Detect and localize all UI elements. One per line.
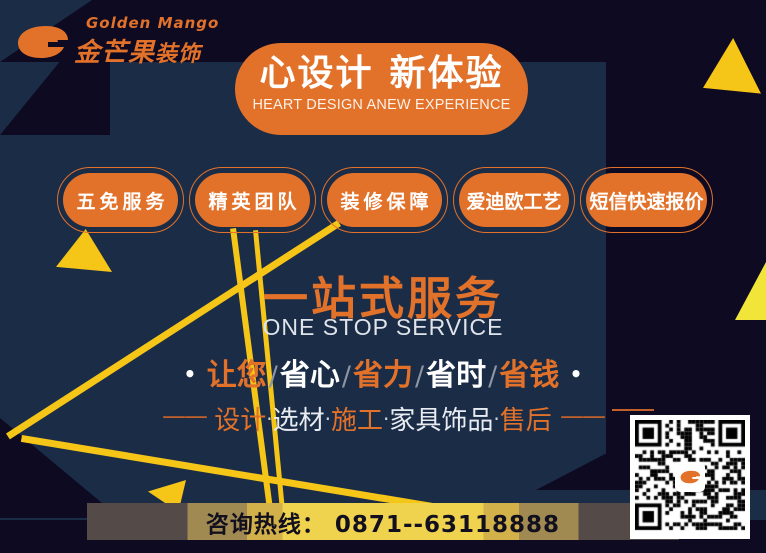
feature-pill-4-body[interactable]: 爱迪欧工艺 [459, 173, 569, 227]
hero-banner: 心设计新体验 HEART DESIGN ANEW EXPERIENCE [235, 43, 528, 135]
qr-accent-line [612, 409, 654, 411]
feature-pill-2-body[interactable]: 精英团队 [195, 173, 310, 227]
qr-code[interactable] [630, 415, 750, 539]
brand-chinese-main: 金芒果 [74, 38, 155, 68]
feature-pill-1-label: 五免服务 [72, 187, 168, 214]
service-item-1: 设计 [214, 406, 266, 436]
service-item-4: 家具饰品 [389, 406, 493, 436]
brand-english-name: Golden Mango [86, 14, 219, 32]
benefit-item-4: 省时 [426, 358, 486, 393]
service-item-5: 售后 [500, 406, 552, 436]
feature-pill-1-body[interactable]: 五免服务 [63, 173, 178, 227]
feature-pill-2[interactable]: 精英团队 [189, 167, 316, 233]
feature-pill-4[interactable]: 爱迪欧工艺 [453, 167, 575, 233]
onestop-subtitle: ONE STOP SERVICE [0, 314, 766, 341]
feature-pill-3-label: 装修保障 [336, 187, 432, 214]
poster-canvas: Golden Mango 金芒果装饰 心设计新体验 HEART DESIGN A… [0, 0, 766, 553]
feature-pill-5[interactable]: 短信快速报价 [580, 167, 713, 233]
benefit-item-2: 省心 [280, 358, 340, 393]
hotline-text: 咨询热线： 0871--63118888 [87, 503, 679, 540]
golden-mango-logo-mark [14, 23, 70, 61]
feature-pill-row: 五免服务 精英团队 装修保障 爱迪欧工艺 短信快速报价 [57, 167, 713, 233]
benefits-separator-4: / [486, 361, 499, 392]
hero-title: 心设计新体验 [235, 53, 528, 95]
brand-chinese-name: 金芒果装饰 [74, 32, 201, 69]
benefits-trail-dot: • [570, 362, 583, 386]
benefits-lead-dot: • [184, 362, 197, 386]
hero-subtitle: HEART DESIGN ANEW EXPERIENCE [235, 97, 528, 113]
feature-pill-3[interactable]: 装修保障 [321, 167, 448, 233]
feature-pill-3-body[interactable]: 装修保障 [327, 173, 442, 227]
hero-title-left: 心设计 [259, 53, 373, 94]
services-right-dash: —— [560, 402, 604, 430]
benefits-separator-3: / [413, 361, 426, 392]
benefit-item-3: 省力 [353, 358, 413, 393]
feature-pill-4-label: 爱迪欧工艺 [466, 187, 561, 214]
feature-pill-2-label: 精英团队 [204, 187, 300, 214]
qr-center-logo [675, 462, 705, 492]
benefit-item-5: 省钱 [499, 358, 559, 393]
benefits-line: • 让您/省心/省力/省时/省钱 • [0, 350, 766, 394]
hotline-band: 咨询热线： 0871--63118888 [87, 503, 679, 540]
service-item-2: 选材 [273, 406, 325, 436]
benefits-separator-2: / [340, 361, 353, 392]
feature-pill-5-label: 短信快速报价 [589, 187, 703, 214]
benefits-separator-1: / [267, 361, 280, 392]
feature-pill-1[interactable]: 五免服务 [57, 167, 184, 233]
brand-logo: Golden Mango 金芒果装饰 [14, 14, 214, 64]
hero-title-right: 新体验 [390, 53, 504, 94]
feature-pill-5-body[interactable]: 短信快速报价 [586, 173, 707, 227]
brand-chinese-suffix: 装饰 [155, 42, 201, 67]
services-left-dash: —— [162, 402, 206, 430]
benefit-item-1: 让您 [207, 358, 267, 393]
service-item-3: 施工 [331, 406, 383, 436]
